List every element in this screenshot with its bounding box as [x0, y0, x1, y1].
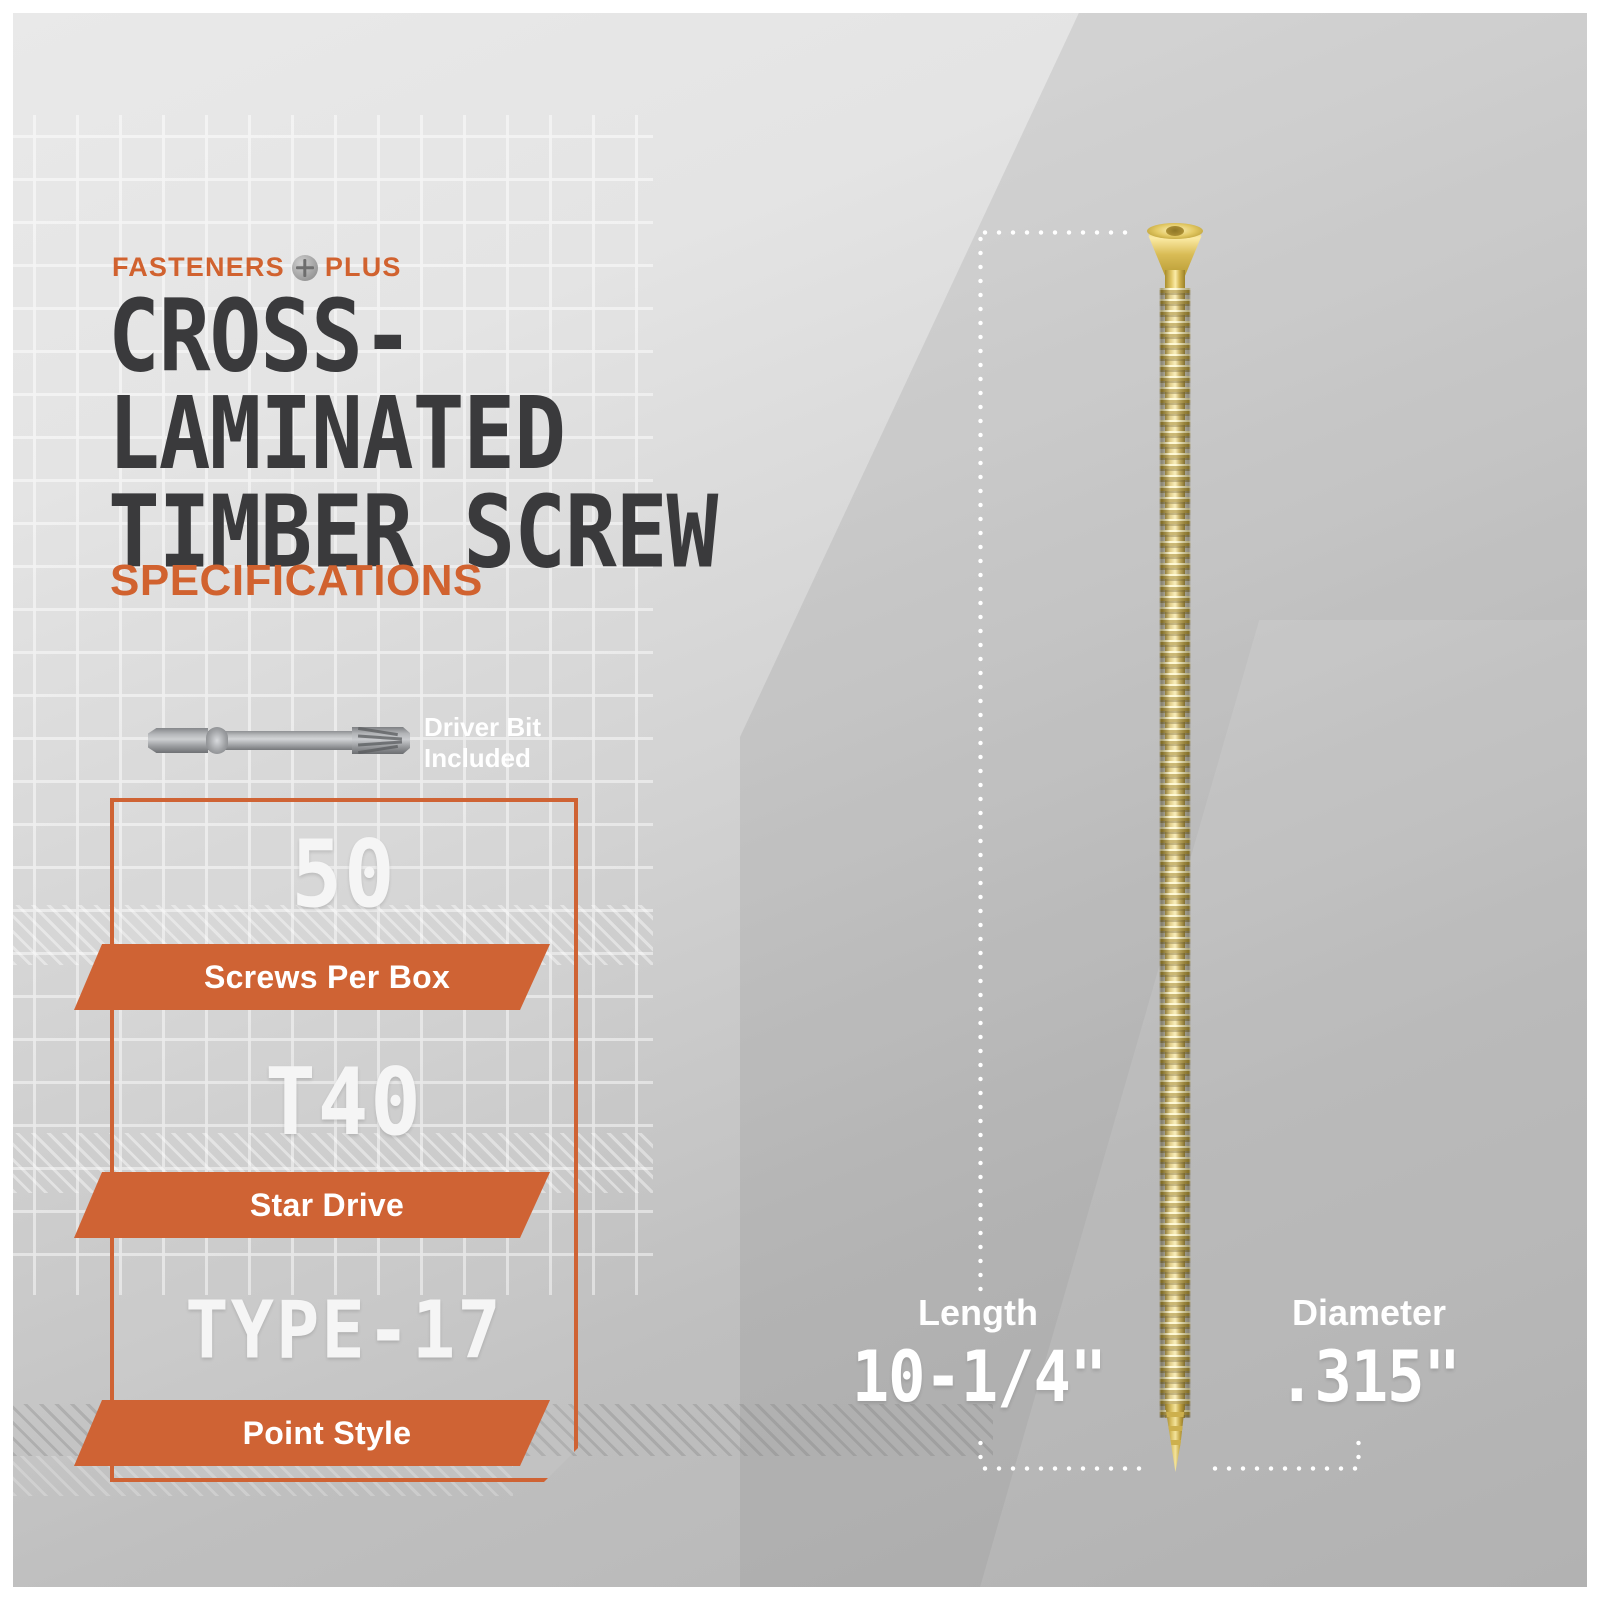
- spec-list: 50 Screws Per Box T40 Star Drive TYPE-17…: [110, 798, 578, 1482]
- screw-head-icon: [292, 255, 318, 281]
- spec-item-point-style: TYPE-17 Point Style: [110, 1254, 578, 1482]
- star-drive-recess-icon: [1166, 226, 1184, 236]
- infographic-canvas: FASTENERS PLUS CROSS- LAMINATED TIMBER S…: [0, 0, 1600, 1600]
- spec-label-ribbon: Screws Per Box: [74, 944, 550, 1010]
- length-guide-vertical: [978, 232, 983, 1292]
- length-value: 10-1/4": [848, 1335, 1110, 1418]
- driver-bit-label: Driver Bit Included: [424, 712, 644, 773]
- diameter-guide-tick: [1356, 1436, 1361, 1468]
- bit-torx-tip: [352, 727, 410, 754]
- spec-label: Point Style: [213, 1415, 412, 1452]
- page-margin-bottom: [0, 1587, 1600, 1600]
- screw-type17-point: [1165, 1404, 1185, 1472]
- spec-label: Star Drive: [220, 1187, 404, 1224]
- page-title: CROSS- LAMINATED TIMBER SCREW: [108, 288, 1008, 581]
- spec-value: T40: [110, 1018, 578, 1185]
- diameter-guide-horizontal: [1208, 1466, 1360, 1471]
- length-label: Length: [858, 1292, 1098, 1334]
- spec-value: TYPE-17: [110, 1246, 578, 1413]
- page-subtitle: SPECIFICATIONS: [110, 556, 483, 606]
- spec-item-star-drive: T40 Star Drive: [110, 1026, 578, 1254]
- driver-bit-label-line-1: Driver Bit: [424, 712, 644, 743]
- page-margin-top: [0, 0, 1600, 13]
- diameter-label: Diameter: [1242, 1292, 1496, 1334]
- screw-threads: [1156, 288, 1194, 1418]
- screw-product-image: [1144, 222, 1206, 1472]
- diameter-value: .315": [1248, 1335, 1490, 1418]
- spec-label-ribbon: Point Style: [74, 1400, 550, 1466]
- title-line-1: CROSS-: [108, 288, 1008, 386]
- page-margin-left: [0, 0, 13, 1600]
- bit-groove: [206, 727, 228, 754]
- length-guide-bottom-horizontal: [978, 1466, 1144, 1471]
- driver-bit-icon: [140, 722, 410, 758]
- driver-bit-label-line-2: Included: [424, 743, 644, 774]
- page-margin-right: [1587, 0, 1600, 1600]
- spec-label-ribbon: Star Drive: [74, 1172, 550, 1238]
- bit-hex-end: [148, 728, 208, 753]
- spec-item-screws-per-box: 50 Screws Per Box: [110, 798, 578, 1026]
- spec-label: Screws Per Box: [174, 959, 450, 996]
- title-line-2: LAMINATED: [108, 386, 1008, 484]
- length-guide-top-horizontal: [978, 230, 1130, 235]
- length-guide-bottom-tick: [978, 1436, 983, 1468]
- spec-value: 50: [110, 790, 578, 957]
